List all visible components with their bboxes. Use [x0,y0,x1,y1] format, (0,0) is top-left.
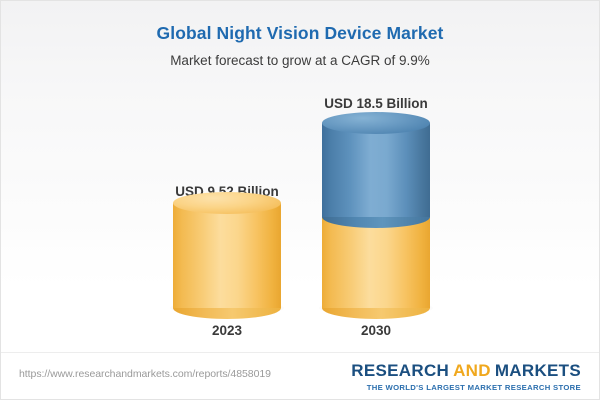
cylinder-top-cap-2030 [322,112,430,134]
logo-word-markets: MARKETS [495,361,581,380]
brand-logo[interactable]: RESEARCHANDMARKETS THE WORLD'S LARGEST M… [351,362,581,392]
cylinder-body-growth-2030 [322,123,430,217]
footer: https://www.researchandmarkets.com/repor… [1,353,599,400]
cylinder-body-2023 [173,203,281,308]
chart-subtitle: Market forecast to grow at a CAGR of 9.9… [1,53,599,68]
bar-segment-growth-2030 [322,112,430,217]
cylinder-top-cap-2023 [173,192,281,214]
chart-plot-area: USD 9.52 Billion 2023 USD 18.5 Billion [1,81,599,346]
logo-tagline: THE WORLD'S LARGEST MARKET RESEARCH STOR… [351,383,581,392]
bar-value-label-2030: USD 18.5 Billion [301,96,451,111]
bar-cylinder-2023[interactable] [173,192,281,308]
category-label-2030: 2030 [301,323,451,338]
bar-group-2030: USD 18.5 Billion 2030 [301,81,451,346]
bar-group-2023: USD 9.52 Billion 2023 [152,81,302,346]
logo-wordmark: RESEARCHANDMARKETS [351,362,581,380]
logo-word-research: RESEARCH [351,361,449,380]
category-label-2023: 2023 [152,323,302,338]
bar-segment-base-2023 [173,192,281,308]
logo-word-and: AND [453,361,491,380]
report-url[interactable]: https://www.researchandmarkets.com/repor… [19,368,271,380]
chart-card: Global Night Vision Device Market Market… [0,0,600,400]
bar-cylinder-2030[interactable] [322,112,430,308]
page-title: Global Night Vision Device Market [1,23,599,44]
